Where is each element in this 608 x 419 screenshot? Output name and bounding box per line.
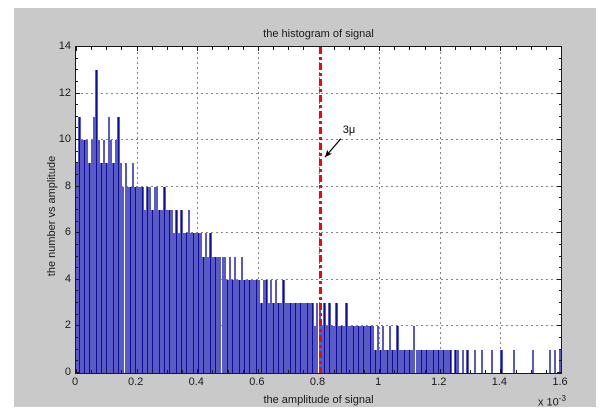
x-tick-label: 1.6 (552, 376, 567, 388)
x-tick-label: 1.2 (431, 376, 446, 388)
x-tick-label: 1.4 (492, 376, 507, 388)
x-tick-label: 0 (72, 376, 78, 388)
x-minor-tick-mark (561, 370, 562, 373)
y-tick-label: 0 (65, 366, 71, 378)
y-tick-label: 2 (65, 319, 71, 331)
y-tick-label: 4 (65, 273, 71, 285)
x-axis-exponent: x 10-3 (538, 394, 566, 409)
x-tick-label: 0.4 (189, 376, 204, 388)
x-tick-mark (561, 369, 562, 373)
matlab-figure-panel: the histogram of signal 3μ the number vs… (14, 8, 596, 407)
x-tick-label: 0.8 (310, 376, 325, 388)
x-exponent-prefix: x 10 (538, 397, 559, 409)
plot-inner-canvas: 3μ (76, 47, 561, 373)
x-minor-tick-mark (561, 47, 562, 50)
plot-axes: 3μ (75, 46, 562, 374)
y-tick-label: 12 (59, 87, 71, 99)
screenshot-root: the histogram of signal 3μ the number vs… (0, 0, 608, 419)
x-tick-label: 1 (375, 376, 381, 388)
y-tick-label: 14 (59, 40, 71, 52)
x-exponent-power: -3 (559, 394, 566, 403)
annotation-arrow-3mu (76, 47, 561, 373)
x-tick-label: 0.2 (128, 376, 143, 388)
x-axis-label: the amplitude of signal (75, 394, 562, 406)
y-tick-label: 6 (65, 226, 71, 238)
x-tick-mark (561, 47, 562, 51)
y-axis-label: the number vs amplitude (46, 116, 58, 316)
x-tick-label: 0.6 (249, 376, 264, 388)
page-title: the histogram of signal (75, 28, 562, 40)
y-tick-label: 8 (65, 180, 71, 192)
y-tick-label: 10 (59, 133, 71, 145)
